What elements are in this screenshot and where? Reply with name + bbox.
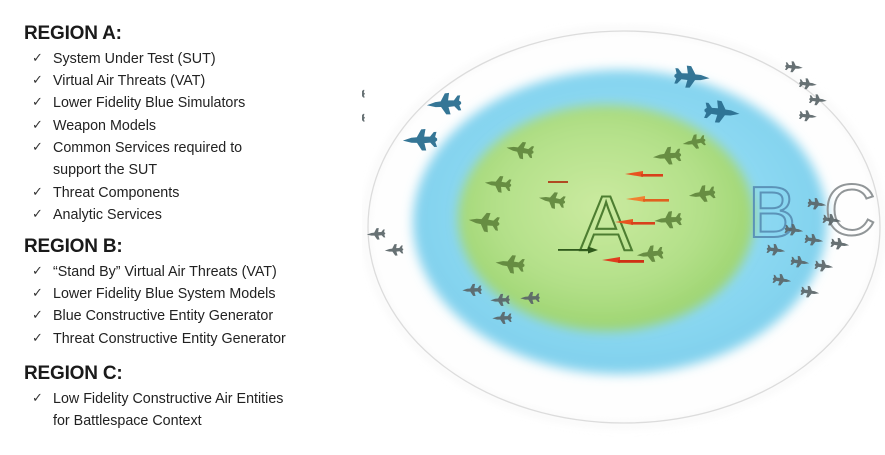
region-c-heading: REGION C: <box>24 362 365 386</box>
list-item-label: Threat Components <box>53 182 365 204</box>
diagram-svg: A B C <box>362 22 885 442</box>
region-b-bullet-list: ✓ “Stand By” Virtual Air Threats (VAT) ✓… <box>22 261 365 350</box>
checkmark-icon: ✓ <box>22 283 53 303</box>
checkmark-icon: ✓ <box>22 388 53 408</box>
list-item: ✓ Threat Constructive Entity Generator <box>22 328 365 350</box>
list-item-label: Lower Fidelity Blue System Models <box>53 283 365 305</box>
region-b-block: REGION B: ✓ “Stand By” Virtual Air Threa… <box>22 235 365 350</box>
list-item: ✓ Threat Components <box>22 182 365 204</box>
region-definitions-panel: REGION A: ✓ System Under Test (SUT) ✓ Vi… <box>0 0 365 455</box>
list-item: ✓ Virtual Air Threats (VAT) <box>22 70 365 92</box>
aircraft-icon <box>362 88 365 100</box>
checkmark-icon: ✓ <box>22 204 53 224</box>
region-c-block: REGION C: ✓ Low Fidelity Constructive Ai… <box>22 362 365 432</box>
region-a-bullet-list: ✓ System Under Test (SUT) ✓ Virtual Air … <box>22 48 365 226</box>
region-venn-diagram: A B C <box>362 22 885 442</box>
list-item-label: Weapon Models <box>53 115 365 137</box>
list-item-label-continued: support the SUT <box>22 159 365 181</box>
list-item: ✓ Lower Fidelity Blue Simulators <box>22 92 365 114</box>
list-item-label: Common Services required to <box>53 137 365 159</box>
region-a-heading: REGION A: <box>24 22 365 46</box>
list-item-label: Virtual Air Threats (VAT) <box>53 70 365 92</box>
list-item: ✓ Low Fidelity Constructive Air Entities <box>22 388 365 410</box>
missile-icon <box>548 181 568 183</box>
list-item-label-continued: for Battlespace Context <box>22 410 365 432</box>
slide-root: REGION A: ✓ System Under Test (SUT) ✓ Vi… <box>0 0 885 455</box>
list-item: ✓ Common Services required to <box>22 137 365 159</box>
list-item-label: Lower Fidelity Blue Simulators <box>53 92 365 114</box>
region-b-label: B <box>748 173 796 253</box>
checkmark-icon: ✓ <box>22 305 53 325</box>
region-b-heading: REGION B: <box>24 235 365 259</box>
checkmark-icon: ✓ <box>22 328 53 348</box>
checkmark-icon: ✓ <box>22 115 53 135</box>
list-item-label: Analytic Services <box>53 204 365 226</box>
list-item: ✓ Blue Constructive Entity Generator <box>22 305 365 327</box>
list-item-label: System Under Test (SUT) <box>53 48 365 70</box>
spacer <box>22 352 365 362</box>
list-item: ✓ Analytic Services <box>22 204 365 226</box>
list-item-label: Threat Constructive Entity Generator <box>53 328 365 350</box>
list-item-label: Blue Constructive Entity Generator <box>53 305 365 327</box>
list-item: ✓ System Under Test (SUT) <box>22 48 365 70</box>
list-item: ✓ “Stand By” Virtual Air Threats (VAT) <box>22 261 365 283</box>
checkmark-icon: ✓ <box>22 92 53 112</box>
checkmark-icon: ✓ <box>22 137 53 157</box>
list-item: ✓ Weapon Models <box>22 115 365 137</box>
checkmark-icon: ✓ <box>22 261 53 281</box>
list-item-label: “Stand By” Virtual Air Threats (VAT) <box>53 261 365 283</box>
aircraft-icon <box>785 61 804 74</box>
list-item-label: Low Fidelity Constructive Air Entities <box>53 388 365 410</box>
list-item: ✓ Lower Fidelity Blue System Models <box>22 283 365 305</box>
checkmark-icon: ✓ <box>22 182 53 202</box>
checkmark-icon: ✓ <box>22 70 53 90</box>
spacer <box>22 228 365 235</box>
checkmark-icon: ✓ <box>22 48 53 68</box>
region-a-block: REGION A: ✓ System Under Test (SUT) ✓ Vi… <box>22 22 365 226</box>
region-c-bullet-list: ✓ Low Fidelity Constructive Air Entities… <box>22 388 365 433</box>
aircraft-icon <box>362 112 365 124</box>
